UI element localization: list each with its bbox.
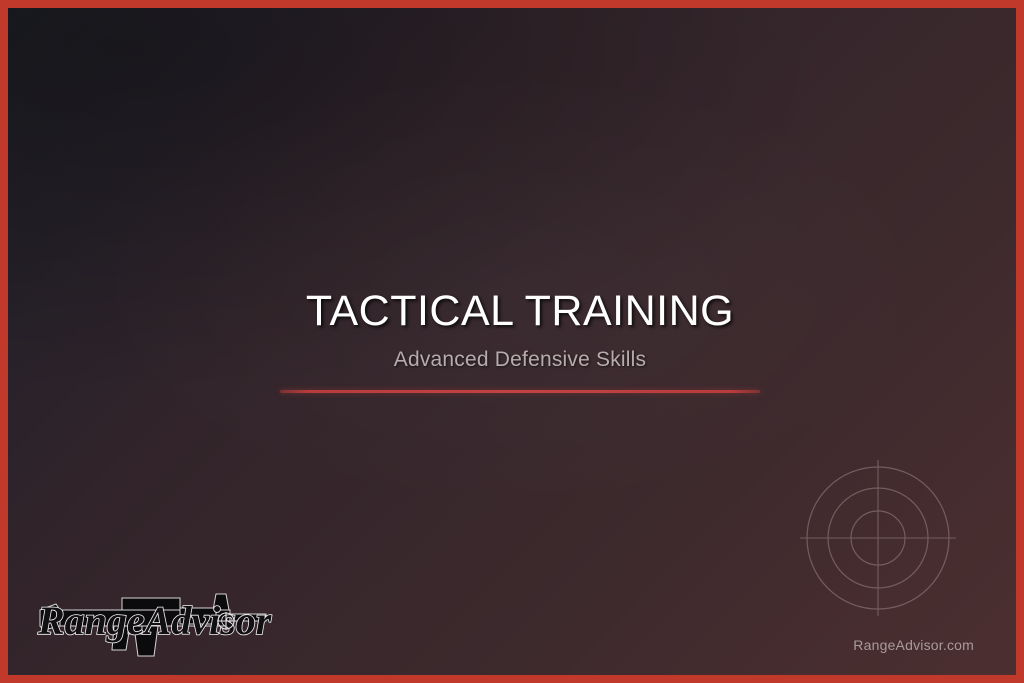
- title-block: TACTICAL TRAINING Advanced Defensive Ski…: [8, 289, 1024, 372]
- logo-wordmark-text: RangeAdvisor: [37, 598, 272, 643]
- page-title: TACTICAL TRAINING: [8, 289, 1024, 335]
- rangeadvisor-logo-svg: RangeAdvisor: [30, 564, 278, 664]
- target-reticle-icon: [800, 460, 956, 616]
- accent-divider: [280, 390, 760, 393]
- logo-wordmark: RangeAdvisor: [37, 598, 272, 643]
- reticle-svg: [800, 460, 956, 616]
- brand-logo: RangeAdvisor: [30, 564, 278, 664]
- presentation-slide: TACTICAL TRAINING Advanced Defensive Ski…: [0, 0, 1024, 683]
- page-subtitle: Advanced Defensive Skills: [8, 348, 1024, 372]
- attribution-text: RangeAdvisor.com: [853, 637, 974, 653]
